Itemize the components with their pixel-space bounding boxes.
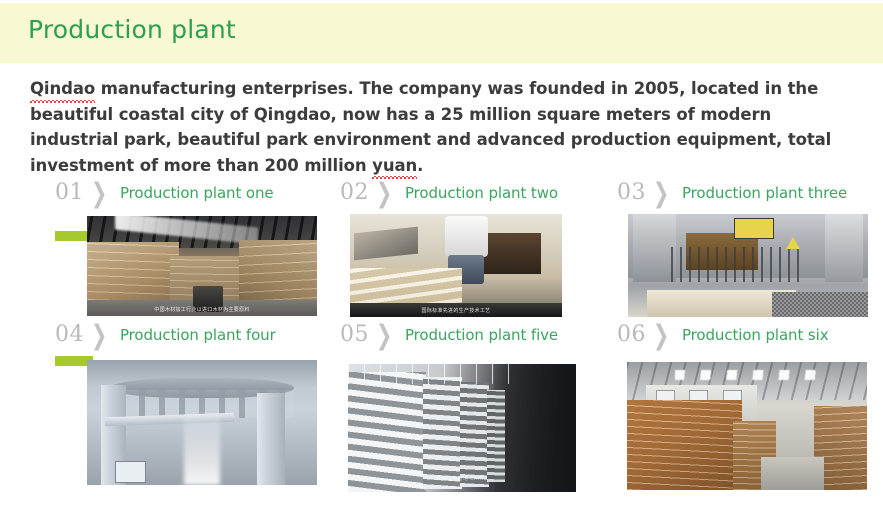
plant-item-03-header: 03 ❯ Production plant three: [617, 182, 875, 216]
photo-hanging-hooks: [348, 364, 512, 384]
plant-item-05[interactable]: 05 ❯ Production plant five 青岛生产基地 CHINA: [340, 324, 590, 358]
intro-text-end: .: [417, 156, 423, 175]
plant-item-01-number: 01: [55, 182, 72, 203]
intro-text-main: manufacturing enterprises. The company w…: [30, 79, 831, 175]
plant-item-01-header: 01 ❯ Production plant one: [55, 182, 325, 216]
photo-pillar-right: [257, 393, 285, 486]
plant-item-05-photo[interactable]: 青岛生产基地 CHINA: [348, 364, 576, 492]
photo-chip-tray: [772, 292, 868, 317]
photo-panel-rack-4: [487, 390, 505, 482]
intro-paragraph: Qindao manufacturing enterprises. The co…: [30, 76, 840, 178]
plant-item-02-label: Production plant two: [405, 184, 558, 202]
chevron-right-icon: ❯: [91, 322, 107, 349]
plant-item-05-label: Production plant five: [405, 326, 558, 344]
plant-gallery-grid: 01 ❯ Production plant one 中国木材加工行业以进口木材为…: [0, 182, 883, 324]
page-title: Production plant: [28, 15, 236, 44]
photo-panel-rack-1: [348, 372, 426, 492]
plant-item-02-photo[interactable]: 国际标准先进的生产技术工艺: [350, 214, 562, 317]
photo-caption: 青岛生产基地 CHINA: [348, 475, 576, 482]
photo-panel-rack-2: [423, 377, 462, 490]
photo-cnc-spindle: [445, 216, 487, 257]
plant-item-04-photo[interactable]: [87, 360, 317, 485]
photo-carton-stack-left: [627, 400, 742, 490]
plant-item-04-number: 04: [55, 324, 89, 345]
plant-item-03-label: Production plant three: [682, 184, 847, 202]
plant-item-06-photo[interactable]: [627, 362, 867, 490]
header-band: Production plant: [0, 3, 883, 63]
warning-label-icon: [734, 218, 774, 239]
photo-control-panel: [115, 461, 147, 483]
plant-item-02-header: 02 ❯ Production plant two: [340, 182, 590, 216]
chevron-right-icon: ❯: [653, 322, 669, 349]
plant-item-03[interactable]: 03 ❯ Production plant three: [617, 182, 875, 216]
chevron-right-icon: ❯: [376, 180, 392, 207]
plant-item-03-number: 03: [617, 182, 651, 203]
plant-item-02[interactable]: 02 ❯ Production plant two 国际标准先进的生产技术工艺: [340, 182, 590, 216]
misspelled-word-qindao: Qindao: [30, 76, 95, 102]
photo-machine-column-left: [633, 214, 676, 282]
chevron-right-icon: ❯: [91, 180, 107, 207]
photo-machine-column-right: [825, 214, 863, 282]
plant-item-06-header: 06 ❯ Production plant six: [617, 324, 875, 358]
plant-item-02-number: 02: [340, 182, 374, 203]
misspelled-word-yuan: yuan: [372, 153, 417, 179]
plant-item-06-number: 06: [617, 324, 651, 345]
plant-item-01-photo[interactable]: 中国木材加工行业以进口木材为主要原料: [87, 216, 317, 316]
chevron-right-icon: ❯: [376, 322, 392, 349]
plant-item-01[interactable]: 01 ❯ Production plant one 中国木材加工行业以进口木材为…: [55, 182, 325, 216]
plant-item-03-photo[interactable]: [628, 214, 868, 317]
warning-triangle-icon: [786, 237, 800, 249]
plant-item-05-number: 05: [340, 324, 374, 345]
plant-item-04[interactable]: 04 ❯ Production plant four: [55, 324, 325, 358]
plant-item-04-header: 04 ❯ Production plant four: [55, 324, 325, 358]
photo-tool-heads: [671, 247, 805, 282]
photo-light-glow: [184, 413, 221, 486]
gallery-row-2: 04 ❯ Production plant four 05 ❯: [0, 324, 883, 490]
chevron-right-icon: ❯: [653, 180, 669, 207]
photo-ceiling-lights: [675, 370, 824, 380]
photo-panel-rack-3: [460, 382, 490, 487]
gallery-row-1: 01 ❯ Production plant one 中国木材加工行业以进口木材为…: [0, 182, 883, 324]
plant-item-06[interactable]: 06 ❯ Production plant six: [617, 324, 875, 358]
photo-caption: 国际标准先进的生产技术工艺: [350, 307, 562, 314]
photo-caption: 中国木材加工行业以进口木材为主要原料: [87, 306, 317, 313]
plant-item-05-header: 05 ❯ Production plant five: [340, 324, 590, 358]
plant-item-04-label: Production plant four: [120, 326, 276, 344]
plant-item-06-label: Production plant six: [682, 326, 828, 344]
photo-aisle-floor: [761, 457, 823, 490]
plant-item-01-label: Production plant one: [120, 184, 274, 202]
